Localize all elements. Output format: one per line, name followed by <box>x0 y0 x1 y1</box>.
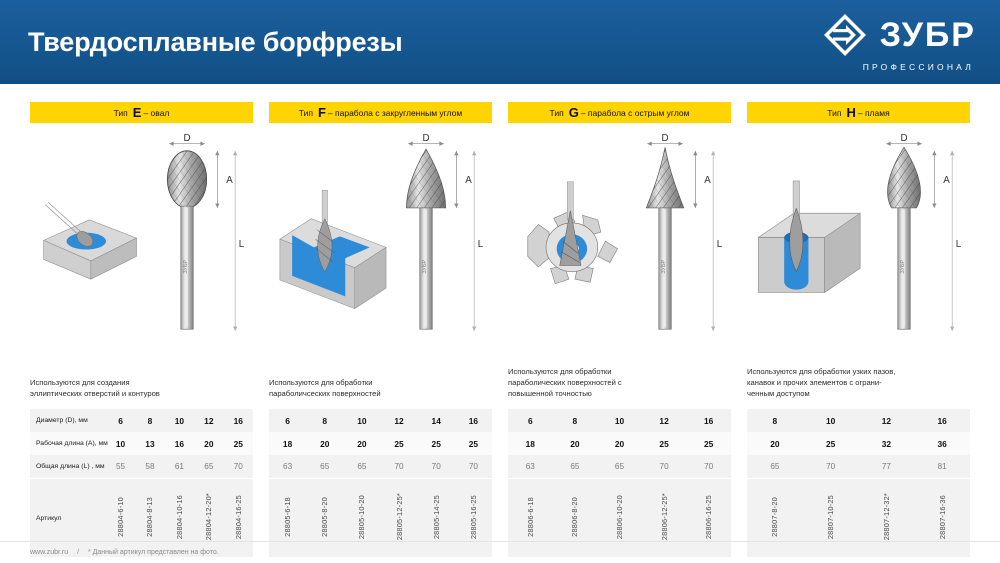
article-number: 28806-16-25 <box>704 495 713 539</box>
svg-text:L: L <box>956 239 961 250</box>
article-number: 28805-8-20 <box>320 497 329 537</box>
article-number: 28805-16-25 <box>469 495 478 539</box>
burr-drawing-f: D ЗУБР A L <box>385 133 483 363</box>
article-number: 28806-10-20 <box>615 495 624 539</box>
spec-table-g: 681012161820202525636565707028806-6-1828… <box>508 409 731 557</box>
spec-table-col-h: 8101216202532366570778128807-8-2028807-1… <box>739 409 978 557</box>
article-number: 28804-16-25 <box>234 495 243 539</box>
type-bar-f: Тип F – парабола с закругленным углом <box>269 102 492 123</box>
brand-name: ЗУБР <box>880 18 976 52</box>
brand-logo: ЗУБР ПРОФЕССИОНАЛ <box>822 12 976 72</box>
table-cell: 70 <box>686 455 731 478</box>
table-cell: 77 <box>859 455 915 478</box>
table-cell: 16 <box>455 409 492 432</box>
description-e: Используются для создания эллиптических … <box>30 377 173 399</box>
table-cell: 14 <box>418 409 455 432</box>
type-cell-f: Тип F – парабола с закругленным углом <box>261 102 500 123</box>
table-cell: 6 <box>106 409 135 432</box>
type-letter: H <box>846 106 855 119</box>
table-cell: 16 <box>686 409 731 432</box>
type-cell-e: Тип E – овал <box>22 102 261 123</box>
application-diagram-f <box>269 143 398 353</box>
table-row: 1820202525 <box>508 432 731 455</box>
svg-text:ЗУБР: ЗУБР <box>661 260 667 274</box>
table-cell: 32 <box>859 432 915 455</box>
table-row: 182020252525 <box>269 432 492 455</box>
spec-table-col-e: Диаметр (D), мм68101216Рабочая длина (A)… <box>22 409 261 557</box>
article-number: 28804-8-13 <box>145 497 154 537</box>
type-header-row: Тип E – овал Тип F – парабола с закругле… <box>0 102 1000 123</box>
table-cell: 16 <box>914 409 970 432</box>
spec-table-col-g: 681012161820202525636565707028806-6-1828… <box>500 409 739 557</box>
svg-text:D: D <box>661 133 668 144</box>
type-prefix: Тип <box>550 108 564 118</box>
table-cell: 61 <box>165 455 194 478</box>
type-prefix: Тип <box>827 108 841 118</box>
table-cell: 70 <box>803 455 859 478</box>
table-cell: 13 <box>135 432 164 455</box>
svg-text:D: D <box>900 133 907 144</box>
article-number: 28804-10-16 <box>175 495 184 539</box>
table-cell: 65 <box>553 455 598 478</box>
svg-text:ЗУБР: ЗУБР <box>183 260 189 274</box>
table-cell: 8 <box>747 409 803 432</box>
table-cell: 6 <box>269 409 306 432</box>
svg-text:L: L <box>478 239 483 250</box>
illustration-column-h: D ЗУБР A L Используются дл <box>739 133 978 405</box>
table-cell: 8 <box>553 409 598 432</box>
illustration-column-g: D ЗУБР A L Используются дл <box>500 133 739 405</box>
table-cell: 20 <box>306 432 343 455</box>
article-number: 28805-6-18 <box>283 497 292 537</box>
burr-drawing-h: D ЗУБР A L <box>863 133 961 363</box>
page-header: Твердосплавные борфрезы ЗУБР ПРОФЕССИОНА… <box>0 0 1000 84</box>
table-cell: 20 <box>343 432 380 455</box>
row-label: Общая длина (L) , мм <box>30 455 106 478</box>
table-row: Общая длина (L) , мм5558616570 <box>30 455 253 478</box>
table-cell: 6 <box>508 409 553 432</box>
svg-text:ЗУБР: ЗУБР <box>900 260 906 274</box>
table-row: 6810121416 <box>269 409 492 432</box>
type-letter: G <box>569 106 579 119</box>
type-cell-h: Тип H – пламя <box>739 102 978 123</box>
svg-text:L: L <box>717 239 722 250</box>
burr-drawing-g: D ЗУБР A L <box>624 133 722 363</box>
illustration-column-f: D ЗУБР A L Используются дл <box>261 133 500 405</box>
illustration-row: D ЗУБР A <box>0 133 1000 405</box>
application-diagram-e <box>30 143 159 353</box>
type-prefix: Тип <box>299 108 313 118</box>
svg-text:A: A <box>704 175 711 186</box>
type-suffix: – парабола с острым углом <box>581 108 690 118</box>
table-cell: 65 <box>747 455 803 478</box>
type-cell-g: Тип G – парабола с острым углом <box>500 102 739 123</box>
table-row: 636565707070 <box>269 455 492 478</box>
article-number: 28806-12-25* <box>660 493 669 540</box>
table-cell: 25 <box>380 432 417 455</box>
table-cell: 25 <box>642 432 687 455</box>
table-cell: 63 <box>269 455 306 478</box>
table-cell: 70 <box>418 455 455 478</box>
type-bar-h: Тип H – пламя <box>747 102 970 123</box>
article-number: 28805-10-20 <box>357 495 366 539</box>
footer-note: * Данный артикул представлен на фото. <box>88 549 219 556</box>
table-cell: 65 <box>306 455 343 478</box>
type-suffix: – пламя <box>858 108 890 118</box>
table-cell: 20 <box>747 432 803 455</box>
table-row: Диаметр (D), мм68101216 <box>30 409 253 432</box>
table-row: 6365657070 <box>508 455 731 478</box>
type-letter: E <box>133 106 142 119</box>
table-cell: 58 <box>135 455 164 478</box>
table-cell: 16 <box>224 409 253 432</box>
description-g: Используются для обработки параболически… <box>508 366 651 399</box>
type-prefix: Тип <box>114 108 128 118</box>
type-bar-e: Тип E – овал <box>30 102 253 123</box>
illustration-column-e: D ЗУБР A <box>22 133 261 405</box>
site-link[interactable]: www.zubr.ru <box>30 549 68 556</box>
description-f: Используются для обработки параболичсеск… <box>269 377 412 399</box>
table-cell: 20 <box>194 432 223 455</box>
brand-tagline: ПРОФЕССИОНАЛ <box>863 62 974 72</box>
application-diagram-h <box>747 143 876 353</box>
zubr-diamond-icon <box>822 12 868 58</box>
burr-drawing-e: D ЗУБР A <box>146 133 244 363</box>
table-row: 68101216 <box>508 409 731 432</box>
table-cell: 25 <box>418 432 455 455</box>
spec-table-f: 681012141618202025252563656570707028805-… <box>269 409 492 557</box>
table-cell: 70 <box>380 455 417 478</box>
table-cell: 18 <box>269 432 306 455</box>
table-cell: 10 <box>597 409 642 432</box>
table-cell: 36 <box>914 432 970 455</box>
article-number: 28807-8-20 <box>770 497 779 537</box>
table-cell: 63 <box>508 455 553 478</box>
spec-table-col-f: 681012141618202025252563656570707028805-… <box>261 409 500 557</box>
application-diagram-g <box>508 143 637 353</box>
type-letter: F <box>318 106 326 119</box>
article-number: 28807-10-25 <box>826 495 835 539</box>
table-cell: 8 <box>306 409 343 432</box>
table-cell: 10 <box>803 409 859 432</box>
article-number: 28806-6-18 <box>526 497 535 537</box>
svg-text:D: D <box>183 133 190 144</box>
table-cell: 10 <box>106 432 135 455</box>
table-cell: 81 <box>914 455 970 478</box>
footer-separator: / <box>77 549 79 556</box>
table-row: 20253236 <box>747 432 970 455</box>
table-cell: 25 <box>686 432 731 455</box>
table-cell: 25 <box>803 432 859 455</box>
table-row: Рабочая длина (A), мм1013162025 <box>30 432 253 455</box>
article-number: 28807-12-32* <box>882 493 891 540</box>
type-suffix: – парабола с закругленным углом <box>328 108 462 118</box>
table-cell: 12 <box>642 409 687 432</box>
spec-table-e: Диаметр (D), мм68101216Рабочая длина (A)… <box>30 409 253 557</box>
svg-text:A: A <box>226 175 233 186</box>
type-bar-g: Тип G – парабола с острым углом <box>508 102 731 123</box>
spec-table-h: 8101216202532366570778128807-8-2028807-1… <box>747 409 970 557</box>
svg-text:L: L <box>239 239 244 250</box>
svg-text:D: D <box>422 133 429 144</box>
svg-text:ЗУБР: ЗУБР <box>422 260 428 274</box>
table-cell: 12 <box>859 409 915 432</box>
table-cell: 10 <box>165 409 194 432</box>
table-cell: 16 <box>165 432 194 455</box>
page-footer: www.zubr.ru / * Данный артикул представл… <box>0 541 1000 563</box>
article-number: 28804-12-20* <box>204 493 213 540</box>
table-cell: 55 <box>106 455 135 478</box>
table-cell: 12 <box>194 409 223 432</box>
table-cell: 25 <box>224 432 253 455</box>
table-cell: 65 <box>597 455 642 478</box>
table-cell: 12 <box>380 409 417 432</box>
table-cell: 20 <box>553 432 598 455</box>
table-cell: 70 <box>224 455 253 478</box>
article-number: 28805-12-25* <box>395 493 404 540</box>
article-number: 28807-16-36 <box>938 495 947 539</box>
table-cell: 20 <box>597 432 642 455</box>
spec-tables-row: Диаметр (D), мм68101216Рабочая длина (A)… <box>0 409 1000 557</box>
table-cell: 65 <box>194 455 223 478</box>
article-number: 28805-14-25 <box>432 495 441 539</box>
table-cell: 18 <box>508 432 553 455</box>
description-h: Используются для обработки узких пазов, … <box>747 366 908 399</box>
table-cell: 65 <box>343 455 380 478</box>
table-cell: 70 <box>642 455 687 478</box>
table-cell: 10 <box>343 409 380 432</box>
svg-text:A: A <box>465 175 472 186</box>
table-row: 8101216 <box>747 409 970 432</box>
table-cell: 8 <box>135 409 164 432</box>
table-cell: 25 <box>455 432 492 455</box>
row-label: Рабочая длина (A), мм <box>30 432 106 455</box>
table-row: 65707781 <box>747 455 970 478</box>
type-suffix: – овал <box>143 108 169 118</box>
article-number: 28806-8-20 <box>570 497 579 537</box>
table-cell: 70 <box>455 455 492 478</box>
page-title: Твердосплавные борфрезы <box>28 27 402 58</box>
article-number: 28804-6-10 <box>116 497 125 537</box>
row-label: Диаметр (D), мм <box>30 409 106 432</box>
svg-text:A: A <box>943 175 950 186</box>
